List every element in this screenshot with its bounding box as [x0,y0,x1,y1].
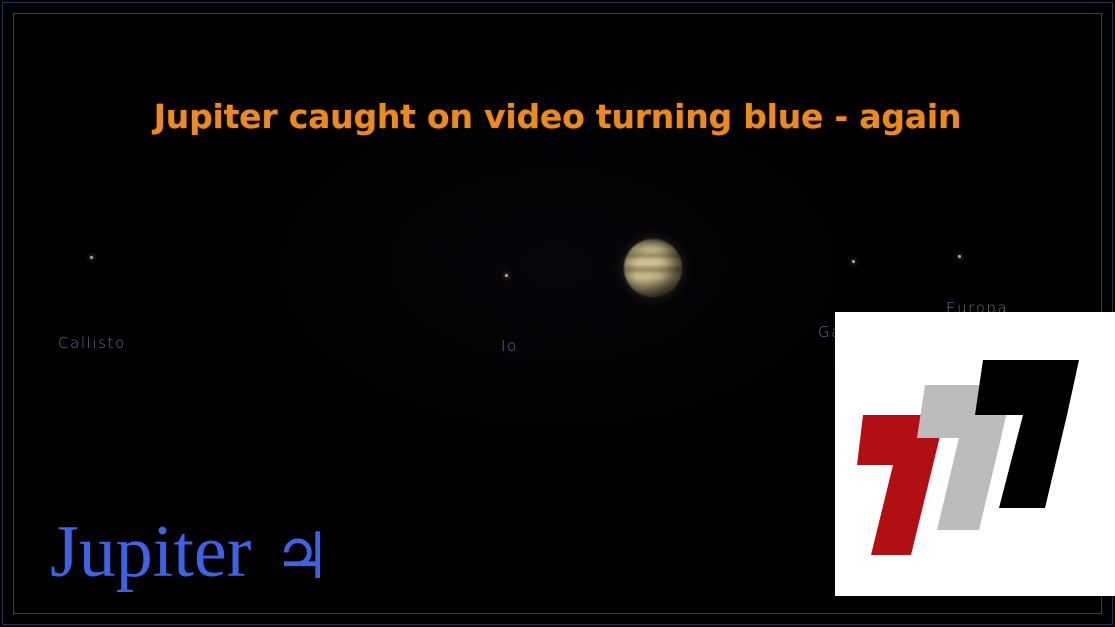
video-frame: Jupiter caught on video turning blue - a… [0,0,1115,627]
ttt-logo-icon [855,360,1095,555]
jupiter-symbol-icon: ♃ [273,520,330,594]
ttt-logo-overlay[interactable] [835,312,1115,596]
moon-label-io: Io [501,337,518,355]
watermark-name: Jupiter [50,511,251,593]
moon-dot-callisto [90,256,93,259]
watermark: Jupiter♃ [50,515,331,589]
moon-dot-io [505,274,508,277]
page-title: Jupiter caught on video turning blue - a… [0,97,1115,136]
moon-dot-ganymede [852,260,855,263]
moon-label-callisto: Callisto [58,334,126,352]
moon-dot-europa [958,255,961,258]
jupiter-planet-disk [624,239,682,297]
